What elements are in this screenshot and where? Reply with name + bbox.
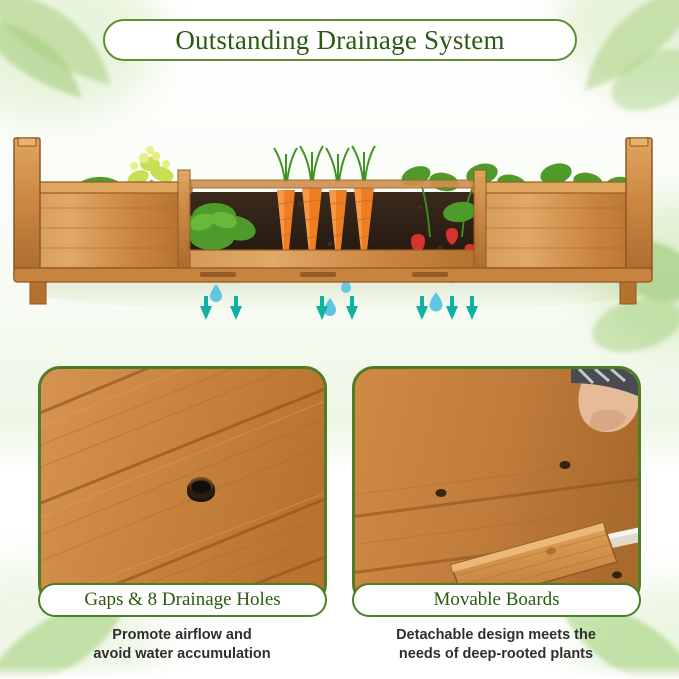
caption-movable-boards-text: Movable Boards: [433, 589, 559, 611]
page-title: Outstanding Drainage System: [175, 25, 504, 56]
drainage-hole: [187, 477, 215, 502]
hero-illustration: [0, 62, 679, 320]
subtitle-drainage-holes: Promote airflow and avoid water accumula…: [32, 626, 332, 664]
subtitle-drainage-line2: avoid water accumulation: [32, 645, 332, 664]
caption-drainage-holes: Gaps & 8 Drainage Holes: [38, 583, 327, 617]
movable-board-photo: [355, 369, 641, 606]
caption-drainage-holes-text: Gaps & 8 Drainage Holes: [84, 589, 280, 611]
drainage-hole-photo: [41, 369, 327, 606]
title-banner: Outstanding Drainage System: [103, 19, 577, 61]
subtitle-drainage-line1: Promote airflow and: [32, 626, 332, 645]
subtitle-movable-line1: Detachable design meets the: [346, 626, 646, 645]
panel-movable-boards: [352, 366, 641, 606]
bottom-fade-strip: [0, 665, 679, 679]
caption-movable-boards: Movable Boards: [352, 583, 641, 617]
subtitle-movable-boards: Detachable design meets the needs of dee…: [346, 626, 646, 664]
panel-drainage-hole: [38, 366, 327, 606]
subtitle-movable-line2: needs of deep-rooted plants: [346, 645, 646, 664]
product-infographic: Outstanding Drainage System: [0, 0, 679, 679]
